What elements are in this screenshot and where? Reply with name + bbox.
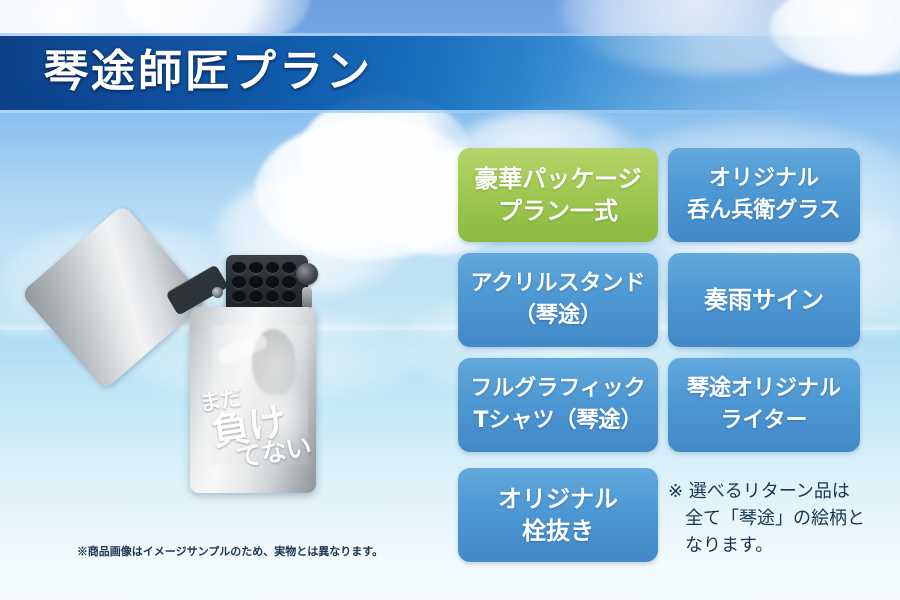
- perk-original-glass: オリジナル 呑ん兵衛グラス: [668, 148, 860, 242]
- perk-label: フルグラフィック Tシャツ（琴途）: [466, 373, 650, 437]
- perk-label-line: （琴途）: [471, 300, 646, 332]
- perk-label-line: フルグラフィック: [470, 373, 646, 405]
- chimney-holes: [232, 262, 296, 302]
- perk-full-graphic-tshirt: フルグラフィック Tシャツ（琴途）: [458, 358, 658, 452]
- perk-label-line: 呑ん兵衛グラス: [687, 195, 841, 227]
- product-disclaimer: ※商品画像はイメージサンプルのため、実物とは異なります。: [40, 543, 420, 559]
- banner-bottom-edge: [0, 110, 900, 113]
- perk-original-bottle-opener: オリジナル 栓抜き: [458, 468, 658, 562]
- return-items-note: ※ 選べるリターン品は 全て「琴途」の絵柄と なります。: [668, 478, 868, 559]
- perk-label-line: オリジナル: [498, 483, 618, 515]
- perk-label: 奏雨サイン: [700, 284, 828, 316]
- page-title: 琴途師匠プラン: [44, 40, 373, 104]
- engraved-slogan: まだ 負け てない: [191, 373, 315, 485]
- perk-label: オリジナル 呑ん兵衛グラス: [683, 163, 845, 227]
- perk-acrylic-stand: アクリルスタンド （琴途）: [458, 253, 658, 347]
- perk-label-line: アクリルスタンド: [471, 268, 646, 300]
- cam-pin: [302, 287, 312, 309]
- perk-kanau-signature: 奏雨サイン: [668, 253, 860, 347]
- perk-label-line: 豪華パッケージ: [474, 163, 642, 195]
- perk-label-line: オリジナル: [687, 163, 841, 195]
- perk-label-line: 栓抜き: [498, 515, 618, 547]
- perk-label: 豪華パッケージ プラン一式: [470, 163, 646, 227]
- perk-label-line: 奏雨サイン: [704, 284, 824, 316]
- perk-label-line: 琴途オリジナル: [687, 373, 841, 405]
- perk-label-line: Tシャツ（琴途）: [470, 405, 646, 437]
- perk-label: アクリルスタンド （琴途）: [467, 268, 650, 332]
- product-image: まだ 負け てない ※商品画像はイメージサンプルのため、実物とは異なります。: [40, 225, 380, 535]
- hinge-screw: [212, 287, 223, 298]
- perk-original-lighter: 琴途オリジナル ライター: [668, 358, 860, 452]
- return-note-line-2: 全て「琴途」の絵柄と: [668, 505, 868, 532]
- return-note-line-3: なります。: [668, 532, 868, 559]
- perk-deluxe-package: 豪華パッケージ プラン一式: [458, 148, 658, 242]
- perk-label: 琴途オリジナル ライター: [683, 373, 845, 437]
- perk-label: オリジナル 栓抜き: [494, 483, 622, 547]
- promo-image-root: 琴途師匠プラン まだ 負け てない ※商品画像はイメージサンプルのため、実物とは…: [0, 0, 900, 600]
- cam-wheel: [296, 263, 318, 285]
- perk-label-line: プラン一式: [474, 195, 642, 227]
- return-note-line-1: ※ 選べるリターン品は: [668, 478, 868, 505]
- perk-label-line: ライター: [687, 405, 841, 437]
- lighter-body: まだ 負け てない: [190, 307, 316, 493]
